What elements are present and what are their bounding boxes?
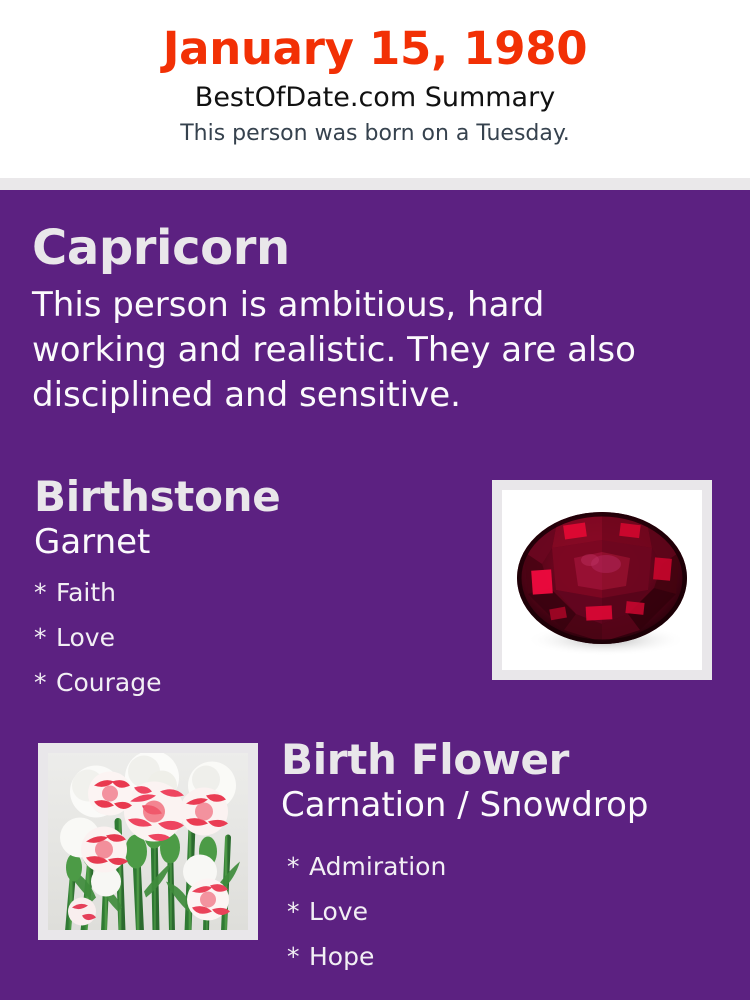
birthflower-trait-label: Hope <box>309 942 374 971</box>
list-item: *Faith <box>34 570 464 615</box>
birthflower-image <box>48 753 248 930</box>
birthflower-name: Carnation / Snowdrop <box>281 784 731 826</box>
birthstone-trait-label: Love <box>56 623 115 652</box>
carnation-bouquet-icon <box>48 753 248 930</box>
birthstone-name: Garnet <box>34 521 464 563</box>
bullet-asterisk-icon: * <box>34 570 56 615</box>
details-panel: Capricorn This person is ambitious, hard… <box>0 190 750 1000</box>
bullet-asterisk-icon: * <box>34 660 56 705</box>
birthflower-heading: Birth Flower <box>281 734 731 786</box>
zodiac-sign-title: Capricorn <box>32 219 692 277</box>
birthflower-trait-list: *Admiration *Love *Hope <box>281 844 731 979</box>
header-divider <box>0 178 750 190</box>
birthstone-image-frame <box>492 480 712 680</box>
list-item: *Admiration <box>281 844 731 889</box>
site-name: BestOfDate.com Summary <box>0 79 750 117</box>
bullet-asterisk-icon: * <box>287 934 309 979</box>
birthflower-section: Birth Flower Carnation / Snowdrop *Admir… <box>281 734 731 979</box>
birthstone-heading: Birthstone <box>34 471 464 523</box>
list-item: *Love <box>34 615 464 660</box>
bullet-asterisk-icon: * <box>287 889 309 934</box>
zodiac-description: This person is ambitious, hard working a… <box>32 283 647 418</box>
birthstone-section: Birthstone Garnet *Faith *Love *Courage <box>34 471 464 705</box>
birthflower-image-frame <box>38 743 258 940</box>
birthstone-trait-list: *Faith *Love *Courage <box>34 570 464 705</box>
list-item: *Courage <box>34 660 464 705</box>
birthstone-trait-label: Courage <box>56 668 161 697</box>
summary-card: January 15, 1980 BestOfDate.com Summary … <box>0 0 750 1000</box>
birthflower-trait-label: Admiration <box>309 852 446 881</box>
page-title-date: January 15, 1980 <box>0 21 750 77</box>
garnet-gemstone-icon <box>502 490 702 670</box>
birthstone-trait-label: Faith <box>56 578 116 607</box>
zodiac-section: Capricorn This person is ambitious, hard… <box>32 219 692 418</box>
bullet-asterisk-icon: * <box>34 615 56 660</box>
birthflower-trait-label: Love <box>309 897 368 926</box>
list-item: *Love <box>281 889 731 934</box>
header: January 15, 1980 BestOfDate.com Summary … <box>0 0 750 178</box>
birth-weekday-note: This person was born on a Tuesday. <box>0 118 750 150</box>
bullet-asterisk-icon: * <box>287 844 309 889</box>
list-item: *Hope <box>281 934 731 979</box>
birthstone-image <box>502 490 702 670</box>
